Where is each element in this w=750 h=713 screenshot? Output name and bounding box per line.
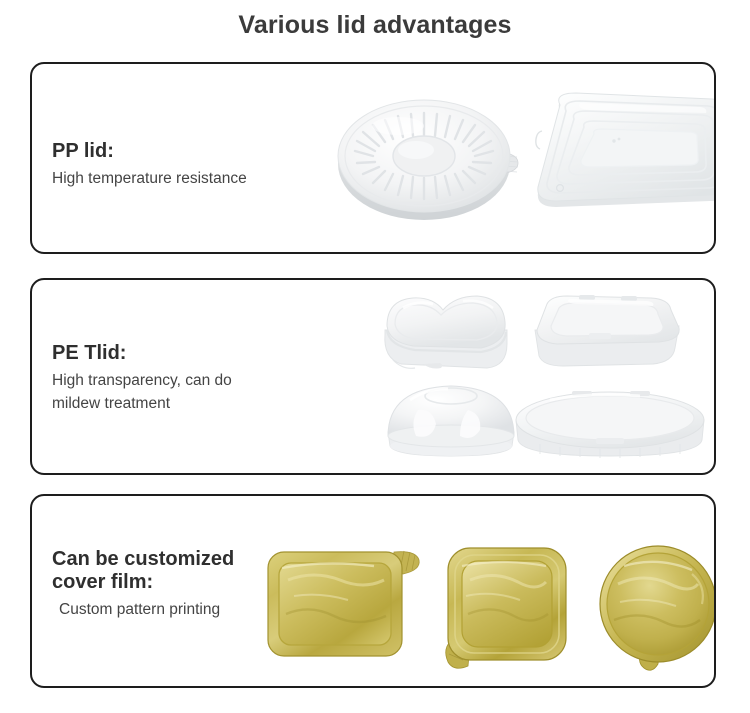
rectangular-gold-foil-lid-image — [264, 546, 424, 664]
card-foil-subtext: Custom pattern printing — [52, 598, 234, 621]
card-pet-heading: PE Tlid: — [52, 342, 232, 365]
square-gold-foil-lid-image — [440, 544, 580, 672]
round-pp-lid-image — [332, 86, 522, 226]
card-foil-heading: Can be customized cover film: — [52, 548, 234, 594]
card-pp-lid: PP lid: High temperature resistance — [30, 62, 716, 254]
rectangular-pp-lid-image — [530, 89, 716, 221]
card-foil-text-block: Can be customized cover film: Custom pat… — [52, 548, 234, 621]
heart-shaped-pet-lid-image — [377, 290, 517, 375]
dome-pet-lid-image — [380, 380, 522, 462]
page-title: Various lid advantages — [0, 11, 750, 40]
square-pet-lid-image — [529, 290, 684, 372]
card-pp-subtext: High temperature resistance — [52, 167, 247, 190]
card-pet-lid: PE Tlid: High transparency, can do milde… — [30, 278, 716, 475]
card-foil-lid: Can be customized cover film: Custom pat… — [30, 494, 716, 688]
card-pp-text-block: PP lid: High temperature resistance — [52, 140, 247, 190]
round-gold-foil-lid-image — [594, 544, 716, 672]
card-pp-heading: PP lid: — [52, 140, 247, 163]
card-pet-text-block: PE Tlid: High transparency, can do milde… — [52, 342, 232, 416]
card-pet-subtext: High transparency, can do mildew treatme… — [52, 369, 232, 416]
oval-pet-lid-image — [510, 386, 710, 462]
